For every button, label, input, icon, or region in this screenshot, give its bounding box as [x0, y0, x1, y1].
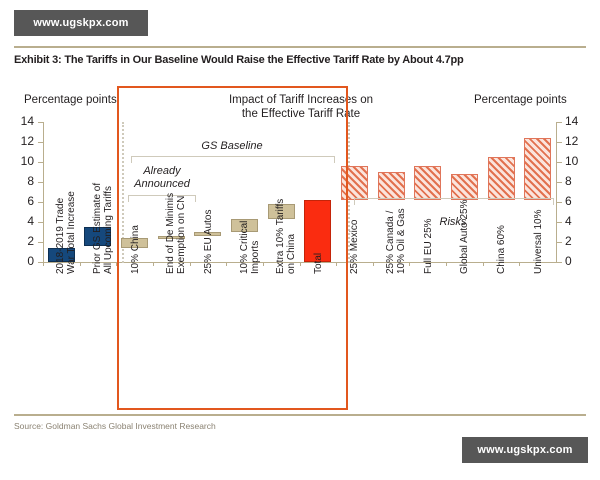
x-label-line: Universal 10% — [533, 154, 544, 274]
y-tick-mark — [38, 122, 43, 123]
y-tick-mark — [38, 222, 43, 223]
x-tick-mark — [43, 262, 44, 266]
x-axis-label: 25% Canada /10% Oil & Gas — [385, 154, 407, 274]
y-tick-mark — [557, 182, 562, 183]
y-tick-mark — [557, 142, 562, 143]
y-tick-label: 6 — [12, 194, 34, 208]
exhibit-title: Exhibit 3: The Tariffs in Our Baseline W… — [14, 54, 586, 66]
y-tick-mark — [38, 202, 43, 203]
y-tick-mark — [38, 242, 43, 243]
y-tick-label: 6 — [565, 194, 587, 208]
y-tick-label: 14 — [12, 114, 34, 128]
y-tick-label: 4 — [12, 214, 34, 228]
x-tick-mark — [409, 262, 410, 266]
y-tick-mark — [557, 262, 562, 263]
y-tick-mark — [557, 122, 562, 123]
watermark-top: www.ugskpx.com — [14, 10, 148, 36]
x-tick-mark — [519, 262, 520, 266]
x-axis-label: China 60% — [496, 154, 507, 274]
x-axis-label: Prior GS Estimate ofAll Upcoming Tariffs — [92, 154, 114, 274]
highlight-callout-box — [117, 86, 348, 410]
x-label-line: 25% Mexico — [349, 154, 360, 274]
x-axis-label: 25% Mexico — [349, 154, 360, 274]
y-tick-mark — [557, 242, 562, 243]
y-tick-label: 14 — [565, 114, 587, 128]
y-tick-label: 0 — [12, 254, 34, 268]
y-tick-label: 10 — [12, 154, 34, 168]
risks-bracket — [354, 198, 554, 205]
y-tick-mark — [38, 162, 43, 163]
x-tick-mark — [446, 262, 447, 266]
watermark-bottom: www.ugskpx.com — [462, 437, 588, 463]
x-label-line: 2018-2019 Trade — [55, 154, 66, 274]
y-tick-label: 12 — [12, 134, 34, 148]
chart-canvas: Percentage points Percentage points Impa… — [0, 88, 600, 408]
y-tick-label: 12 — [565, 134, 587, 148]
y-tick-mark — [38, 182, 43, 183]
y-axis-left — [43, 122, 44, 263]
source-note: Source: Goldman Sachs Global Investment … — [14, 421, 216, 431]
y-tick-label: 8 — [565, 174, 587, 188]
y-tick-mark — [38, 142, 43, 143]
left-axis-title: Percentage points — [24, 94, 117, 106]
y-tick-label: 4 — [565, 214, 587, 228]
divider-bottom — [14, 414, 586, 416]
divider-top — [14, 46, 586, 48]
x-label-line: Global Auto 25% — [459, 154, 470, 274]
y-tick-label: 0 — [565, 254, 587, 268]
annotation-risks: Risks — [403, 216, 503, 229]
y-tick-mark — [557, 202, 562, 203]
y-tick-label: 2 — [12, 234, 34, 248]
x-label-line: War Total Increase — [66, 154, 77, 274]
y-tick-label: 2 — [565, 234, 587, 248]
x-axis-label: Global Auto 25% — [459, 154, 470, 274]
x-label-line: Full EU 25% — [423, 154, 434, 274]
x-label-line: Prior GS Estimate of — [92, 154, 103, 274]
x-axis-label: 2018-2019 TradeWar Total Increase — [55, 154, 77, 274]
x-label-line: 25% Canada / — [385, 154, 396, 274]
x-tick-mark — [373, 262, 374, 266]
x-axis-label: Full EU 25% — [423, 154, 434, 274]
x-label-line: All Upcoming Tariffs — [103, 154, 114, 274]
x-axis-label: Universal 10% — [533, 154, 544, 274]
x-label-line: China 60% — [496, 154, 507, 274]
right-axis-title: Percentage points — [474, 94, 567, 106]
x-label-line: 10% Oil & Gas — [396, 154, 407, 274]
y-tick-mark — [557, 222, 562, 223]
y-tick-label: 8 — [12, 174, 34, 188]
y-tick-label: 10 — [565, 154, 587, 168]
x-tick-mark — [483, 262, 484, 266]
y-tick-mark — [557, 162, 562, 163]
x-tick-mark — [80, 262, 81, 266]
